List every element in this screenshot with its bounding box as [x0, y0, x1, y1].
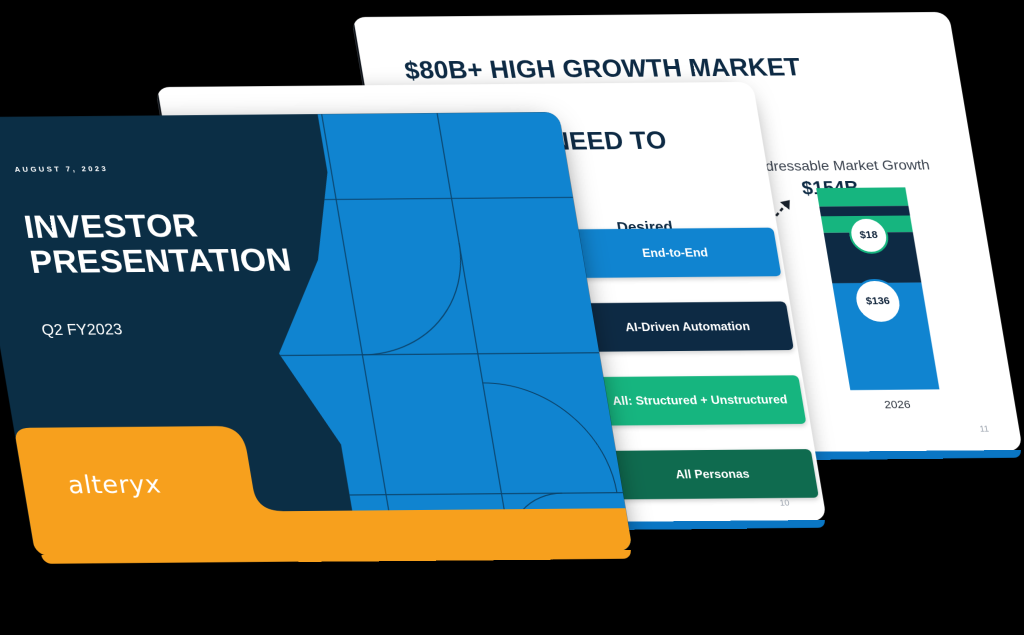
- slide3-page-number: 11: [979, 424, 990, 434]
- desired-item-label: AI-Driven Automation: [624, 319, 751, 334]
- desired-item-all-personas[interactable]: All Personas: [606, 449, 819, 499]
- desired-item-label: All Personas: [675, 467, 751, 481]
- cover-quarter: Q2 FY2023: [41, 322, 124, 340]
- cover-heading: INVESTOR PRESENTATION: [21, 206, 458, 280]
- slide-cover[interactable]: AUGUST 7, 2023 INVESTOR PRESENTATION Q2 …: [0, 112, 633, 556]
- alteryx-logo: alteryx: [66, 470, 163, 499]
- desired-item-label: All: Structured + Unstructured: [612, 393, 789, 408]
- slide-stack-stage: $80B+ HIGH GROWTH MARKET OPPORTUNITY $ i…: [0, 0, 1024, 635]
- desired-item-all-structured-unstructured[interactable]: All: Structured + Unstructured: [594, 375, 807, 425]
- slide2-page-number: 10: [779, 498, 790, 508]
- cover-date: AUGUST 7, 2023: [14, 164, 109, 174]
- desired-item-ai-driven-automation[interactable]: AI-Driven Automation: [581, 301, 794, 351]
- desired-item-end-to-end[interactable]: End-to-End: [569, 228, 782, 278]
- bar-segment-aiml: [816, 187, 908, 206]
- desired-item-label: End-to-End: [641, 246, 709, 260]
- bar-axis-label-2026: 2026: [840, 399, 955, 412]
